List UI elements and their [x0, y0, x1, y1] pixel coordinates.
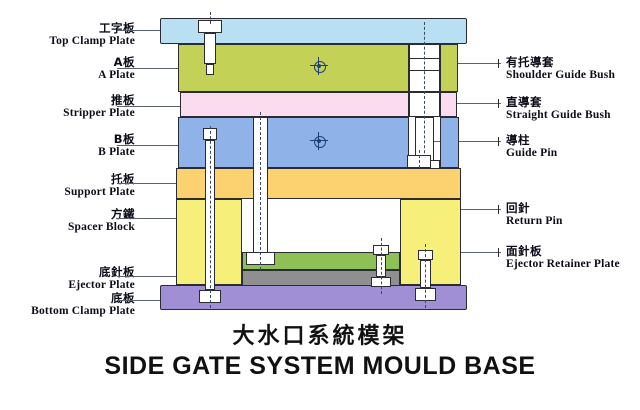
bottom-clamp-bolt-centerline — [425, 244, 426, 308]
label-top-clamp-plate-en: Top Clamp Plate — [49, 35, 135, 48]
label-bottom-clamp-plate: 底板 Bottom Clamp Plate — [31, 292, 135, 318]
label-stripper-plate-en: Stripper Plate — [63, 107, 135, 120]
part-top-clamp-bolt-shank — [204, 33, 216, 64]
label-b-plate: B板 B Plate — [98, 133, 135, 159]
label-spacer-block-cn: 方鐵 — [68, 208, 135, 221]
crosshair-b-plate-icon — [310, 132, 328, 150]
label-support-plate: 托板 Support Plate — [64, 173, 135, 199]
label-support-plate-cn: 托板 — [64, 173, 135, 186]
leader-tick-return-pin — [498, 205, 499, 214]
label-bottom-clamp-plate-cn: 底板 — [31, 292, 135, 305]
label-b-plate-en: B Plate — [98, 146, 135, 159]
guide-pin-centerline — [424, 22, 425, 168]
label-top-clamp-plate-cn: 工字板 — [49, 22, 135, 35]
diagram-title: 大水口系統模架 SIDE GATE SYSTEM MOULD BASE — [0, 318, 640, 381]
label-guide-pin-en: Guide Pin — [506, 147, 557, 160]
label-shoulder-guide-bush-cn: 有托導套 — [506, 56, 615, 69]
label-bottom-clamp-plate-en: Bottom Clamp Plate — [31, 305, 135, 318]
label-top-clamp-plate: 工字板 Top Clamp Plate — [49, 22, 135, 48]
leader-tick-shoulder-guide-bush — [498, 59, 499, 68]
label-ejector-plate: 底針板 Ejector Plate — [68, 266, 135, 292]
mould-base-diagram: 工字板 Top Clamp Plate A板 A Plate 推板 Stripp… — [0, 0, 640, 410]
support-plate-bolt-centerline — [419, 150, 420, 168]
center-ejector-rod-centerline — [260, 112, 261, 270]
label-return-pin-en: Return Pin — [506, 215, 563, 228]
part-a-plate-right — [440, 44, 458, 92]
leader-tick-straight-guide-bush — [498, 99, 499, 108]
label-a-plate-en: A Plate — [98, 69, 135, 82]
leader-guide-pin — [425, 141, 501, 142]
label-stripper-plate: 推板 Stripper Plate — [63, 94, 135, 120]
leader-tick-ejector-retainer-plate — [498, 248, 499, 257]
label-spacer-block: 方鐵 Spacer Block — [68, 208, 135, 234]
label-spacer-block-en: Spacer Block — [68, 221, 135, 234]
diagram-title-cn: 大水口系統模架 — [0, 318, 640, 350]
left-ejector-pin-centerline — [210, 126, 211, 308]
label-return-pin-cn: 回針 — [506, 202, 563, 215]
part-stripper-plate — [180, 92, 409, 117]
label-a-plate: A板 A Plate — [98, 56, 135, 82]
label-ejector-plate-cn: 底針板 — [68, 266, 135, 279]
label-ejector-retainer-plate-cn: 面針板 — [506, 245, 620, 258]
leader-support-plate — [117, 183, 185, 184]
label-guide-pin: 導柱 Guide Pin — [506, 134, 557, 160]
part-top-clamp-bolt-tip — [206, 64, 214, 75]
top-clamp-bolt-centerline — [210, 12, 211, 24]
label-guide-pin-cn: 導柱 — [506, 134, 557, 147]
label-support-plate-en: Support Plate — [64, 186, 135, 199]
return-pin-centerline — [381, 238, 382, 294]
part-b-plate-right — [440, 117, 459, 168]
part-support-plate — [176, 168, 461, 199]
label-straight-guide-bush-cn: 直導套 — [506, 96, 611, 109]
label-ejector-retainer-plate-en: Ejector Retainer Plate — [506, 258, 620, 271]
label-shoulder-guide-bush-en: Shoulder Guide Bush — [506, 69, 615, 82]
label-return-pin: 回針 Return Pin — [506, 202, 563, 228]
leader-tick-guide-pin — [498, 137, 499, 146]
diagram-title-en: SIDE GATE SYSTEM MOULD BASE — [0, 352, 640, 381]
label-shoulder-guide-bush: 有托導套 Shoulder Guide Bush — [506, 56, 615, 82]
label-ejector-retainer-plate: 面針板 Ejector Retainer Plate — [506, 245, 620, 271]
crosshair-a-plate-icon — [310, 57, 328, 75]
part-stripper-plate-right — [440, 92, 457, 117]
leader-spacer-block — [117, 218, 185, 219]
label-straight-guide-bush-en: Straight Guide Bush — [506, 109, 611, 122]
label-straight-guide-bush: 直導套 Straight Guide Bush — [506, 96, 611, 122]
